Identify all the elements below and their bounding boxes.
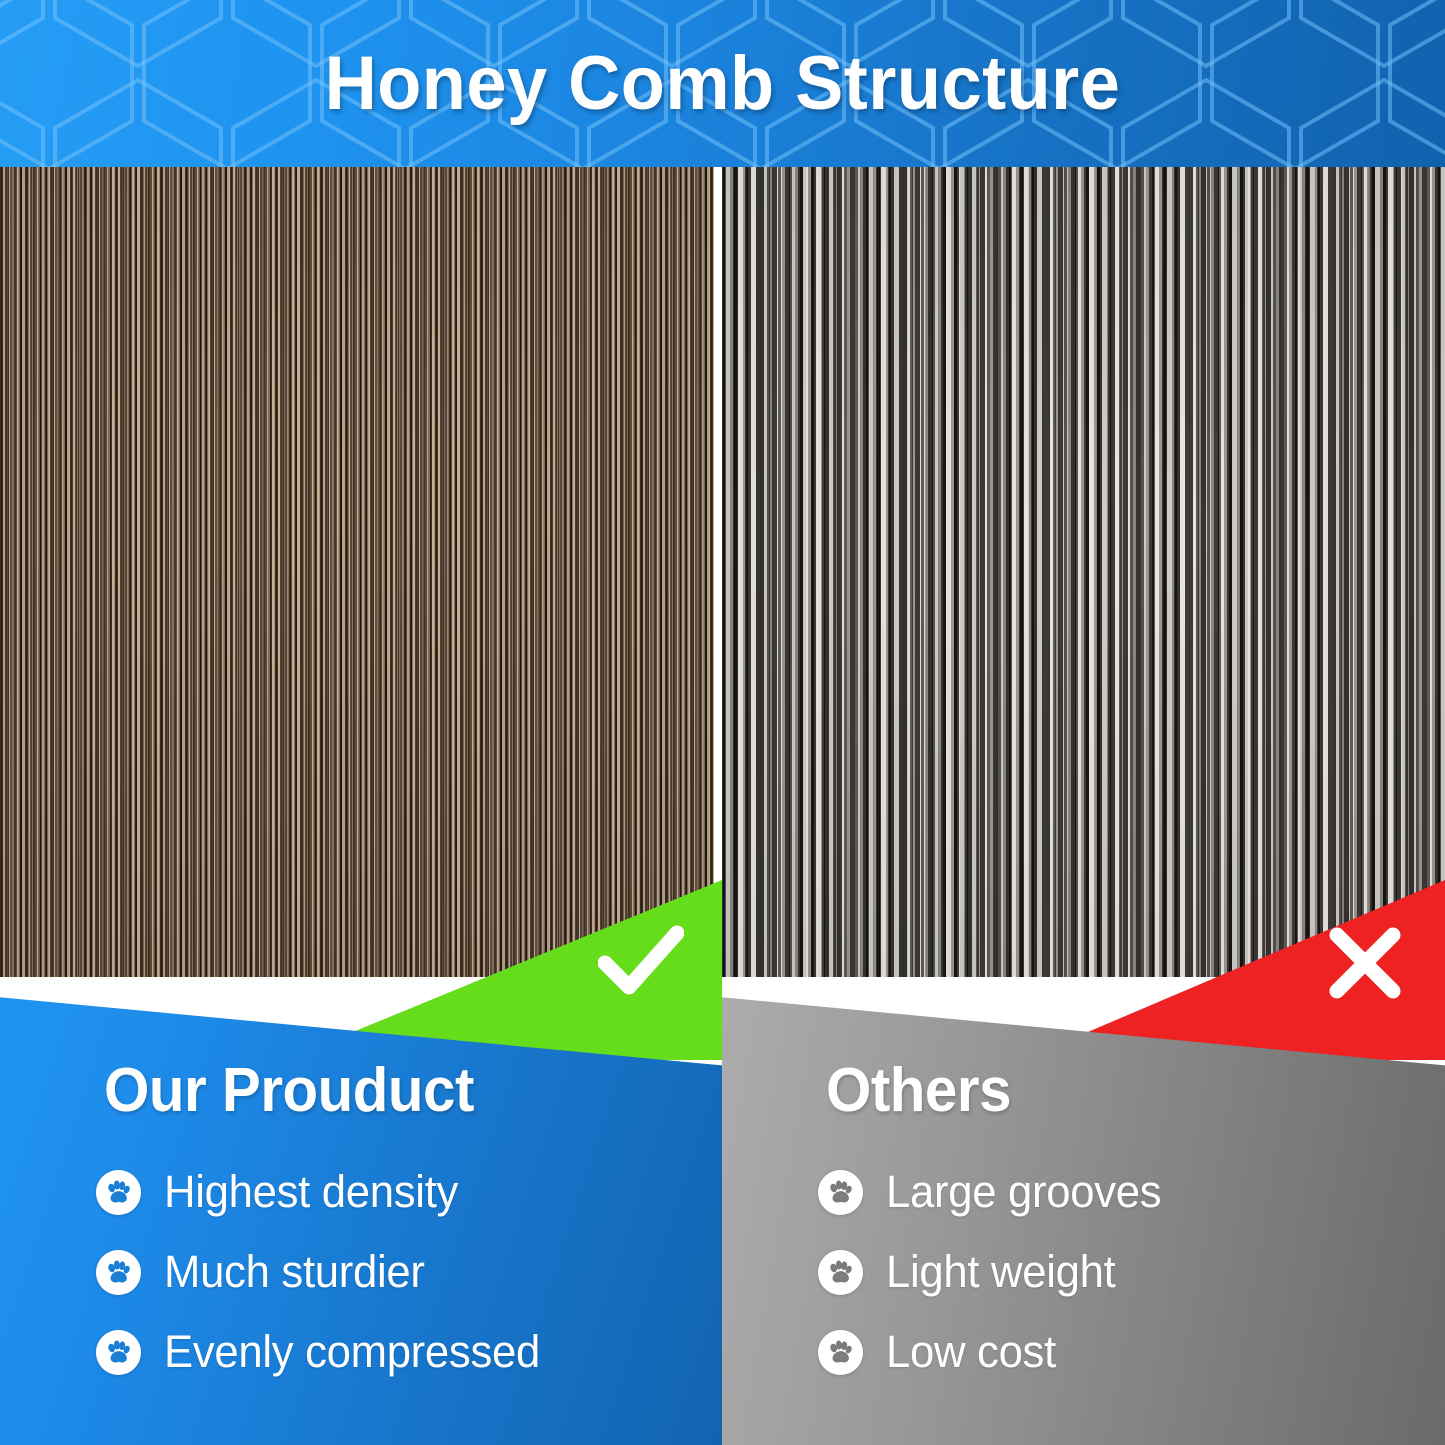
coarse-texture-shading <box>722 167 1445 977</box>
heading-our-product: Our Prouduct <box>104 1055 474 1126</box>
heading-others: Others <box>826 1055 1011 1126</box>
list-item: Light weight <box>818 1243 1418 1301</box>
bullet-label: Low cost <box>886 1326 1056 1378</box>
bullet-label: Evenly compressed <box>164 1326 540 1378</box>
paw-print-icon <box>96 1170 141 1215</box>
bullet-label: Large grooves <box>886 1166 1161 1218</box>
header-banner: Honey Comb Structure <box>0 0 1445 167</box>
list-item: Evenly compressed <box>96 1323 696 1381</box>
bullet-label: Highest density <box>164 1166 458 1218</box>
paw-print-icon <box>96 1250 141 1295</box>
list-item: Large grooves <box>818 1163 1418 1221</box>
dense-texture-shading <box>0 167 714 977</box>
paw-print-icon <box>818 1330 863 1375</box>
honeycomb-comparison-poster: Honey Comb Structure Our Prouduct Others <box>0 0 1445 1445</box>
photo-divider <box>714 167 722 977</box>
bullet-list-others: Large grooves Light weight <box>818 1163 1418 1403</box>
bullet-label: Light weight <box>886 1246 1115 1298</box>
list-item: Highest density <box>96 1163 696 1221</box>
photo-comparison-area <box>0 167 1445 977</box>
photo-others <box>722 167 1445 977</box>
paw-print-icon <box>96 1330 141 1375</box>
paw-print-icon <box>818 1170 863 1215</box>
bullet-label: Much sturdier <box>164 1246 425 1298</box>
checkmark-icon <box>598 925 684 997</box>
list-item: Much sturdier <box>96 1243 696 1301</box>
cross-icon <box>1327 925 1403 1001</box>
bullet-list-our-product: Highest density Much sturdier <box>96 1163 696 1403</box>
list-item: Low cost <box>818 1323 1418 1381</box>
poster-title: Honey Comb Structure <box>36 0 1409 167</box>
paw-print-icon <box>818 1250 863 1295</box>
photo-our-product <box>0 167 714 977</box>
